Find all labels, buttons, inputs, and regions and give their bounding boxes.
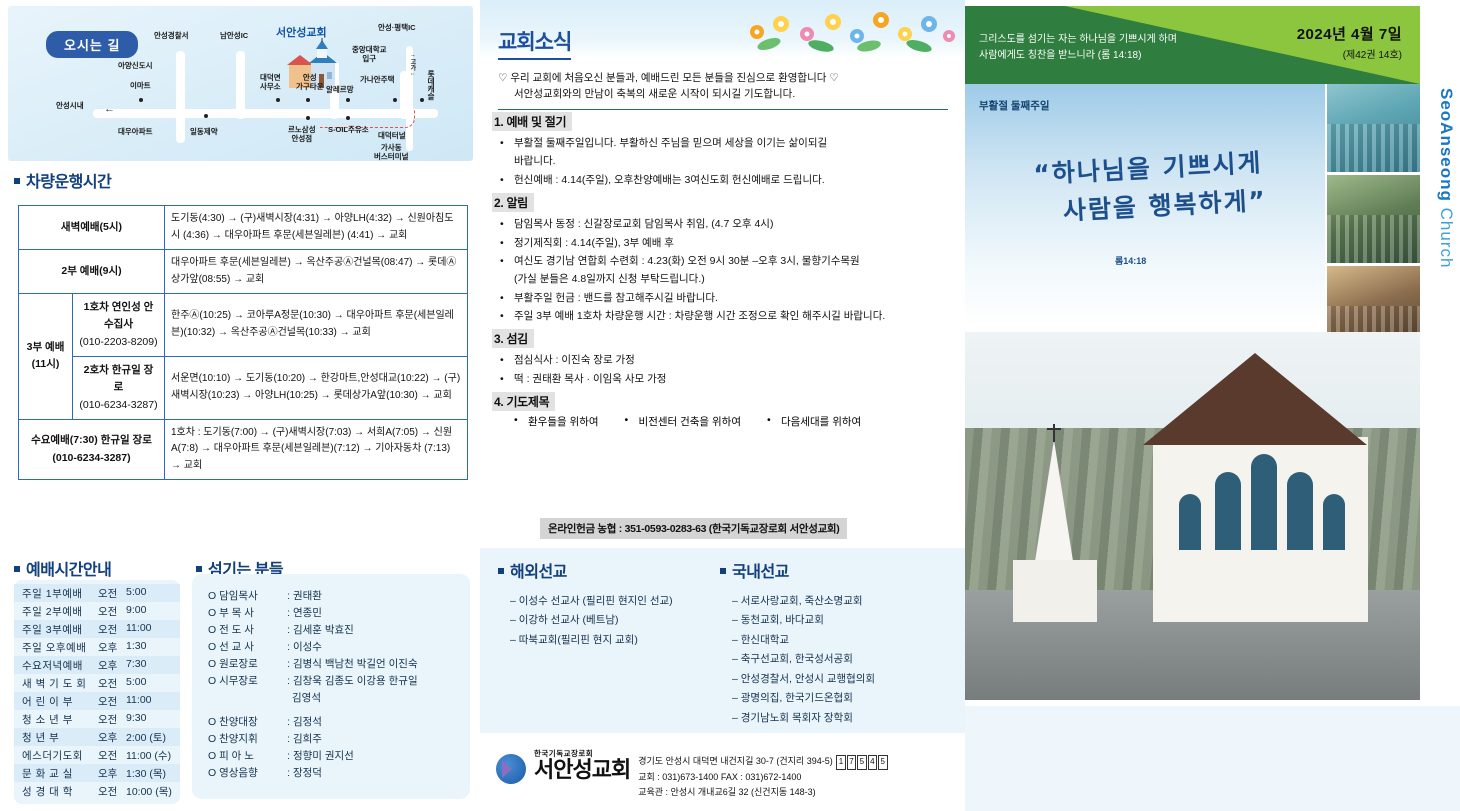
news-item: 헌신예배 : 4.14(주일), 오후찬양예배는 3여신도회 헌신예배로 드립니… (492, 171, 957, 189)
hero-calligraphy-panel: 부활절 둘째주일 “하나님을 기쁘시게 사람을 행복하게” 롬14:18 (965, 84, 1325, 329)
photo-church-roof (1143, 353, 1367, 445)
directions-map: 오시는 길 ← 서안성교회 (8, 6, 473, 161)
list-item: – 한신대학교 (732, 631, 875, 650)
church-logo-icon (496, 754, 526, 784)
photo-thumbnail-2 (1327, 175, 1420, 263)
overseas-mission-list: – 이성수 선교사 (필리핀 현지인 선교) – 이강하 선교사 (베트남) –… (510, 592, 673, 650)
direction-arrow-icon: ← (104, 103, 115, 115)
issue-date: 2024년 4월 7일 (1297, 23, 1402, 44)
bullet-square-icon (720, 568, 726, 574)
list-item: 청 년 부오후2:00 (토) (14, 728, 180, 746)
list-item: 문 화 교 실오후1:30 (목) (14, 764, 180, 782)
map-label-anseong-pyeongtaek-ic: 안성·평택IC (378, 24, 416, 33)
middle-column: 교회소식 ♡ 우리 교회에 처음오신 분들과, 예배드린 모든 분들을 진심으로… (480, 0, 965, 811)
worship-times-heading: 예배시간안내 (14, 556, 111, 580)
season-label: 부활절 둘째주일 (979, 98, 1050, 113)
bulletin-page: 오시는 길 ← 서안성교회 (0, 0, 1460, 811)
news-body: 1. 예배 및 절기 부활절 둘째주일입니다. 부활하신 주님을 믿으며 세상을… (492, 112, 957, 433)
news-section-prayer: 4. 기도제목 환우들을 위하여 비전센터 건축을 위하여 다음세대를 위하여 (492, 392, 957, 429)
prayer-item: 비전센터 건축을 위하여 (625, 414, 741, 429)
map-dot (420, 98, 424, 102)
map-dot (346, 116, 350, 120)
list-item: – 이성수 선교사 (필리핀 현지인 선교) (510, 592, 673, 611)
map-label-namanseong-ic: 남안성IC (220, 32, 248, 41)
map-label-chungang-univ: 중앙대학교입구 (352, 46, 387, 63)
list-item: – 동천교회, 바다교회 (732, 611, 875, 630)
news-section-title: 1. 예배 및 절기 (492, 112, 572, 131)
cell-bus1-driver: 1호차 연인성 안수집사 (010-2203-8209) (73, 294, 165, 357)
overseas-mission-heading: 해외선교 (498, 558, 567, 582)
address-line-2: 교회 : 031)673-1400 FAX : 031)672-1400 (638, 770, 887, 785)
church-building-photo (965, 332, 1420, 700)
driving-schedule-heading: 차량운행시간 (14, 168, 111, 192)
cell-route: 한주Ⓐ(10:25) → 코아루A정문(10:30) → 대우아파트 후문(세븐… (165, 294, 468, 357)
list-item: O 전 도 사: 김세훈 박효진 (208, 622, 454, 639)
map-label-canaan-house: 가나안주택 (360, 76, 395, 85)
news-item-continued: 바랍니다. (492, 152, 957, 170)
map-label-overpass: ↑ 고가 ↓ (408, 54, 415, 75)
calligraphy-text: “하나님을 기쁘시게 사람을 행복하게” (987, 142, 1310, 234)
brand-light-text: Church (1437, 202, 1456, 269)
list-item: 주일 2부예배오전9:00 (14, 602, 180, 620)
news-item: 점심식사 : 이진숙 장로 가정 (492, 351, 957, 369)
verse-line-1: 그리스도를 섬기는 자는 하나님을 기쁘시게 하며 (979, 32, 1177, 48)
map-dot (276, 98, 280, 102)
address-line-3: 교육관 : 안성시 개내교6길 32 (신건지동 148-3) (638, 785, 887, 800)
cell-route: 서운면(10:10) → 도기동(10:20) → 한강마트,안성대교(10:2… (165, 356, 468, 419)
prayer-item: 다음세대를 위하여 (767, 414, 861, 429)
map-label-ildong-pharm: 일동제약 (190, 128, 218, 137)
news-title: 교회소식 (498, 26, 571, 60)
news-section-title: 4. 기도제목 (492, 392, 555, 411)
list-item: – 광명의집, 한국기드온협회 (732, 689, 875, 708)
list-item: O 원로장로: 김병식 백남천 박길언 이진숙 (208, 656, 454, 673)
cell-route: 1호차 : 도기동(7:00) → (구)새벽시장(7:03) → 서희A(7:… (165, 419, 468, 480)
map-label-lotte-castle: 롯데캐슬 (426, 70, 435, 100)
driving-schedule-table: 새벽예배(5시) 도기동(4:30) → (구)새벽시장(4:31) → 아양L… (18, 205, 468, 480)
right-footer: 한국기독교 장 로 회 서안성교회 담임목사권 태 환 교회설립일 1982년 … (965, 706, 1460, 811)
map-label-allerman: 알레르망 (326, 86, 354, 95)
list-item: – 경기남노회 목회자 장학회 (732, 709, 875, 728)
cell-service-label: 새벽예배(5시) (19, 206, 165, 250)
list-item: – 따북교회(필리핀 현지 교회) (510, 631, 673, 650)
cell-bus2-phone: (010-6234-3287) (79, 397, 158, 414)
list-item: O 담임목사: 권태환 (208, 588, 454, 605)
list-item: O 영상음향: 장정덕 (208, 765, 454, 782)
welcome-line-1: ♡ 우리 교회에 처음오신 분들과, 예배드린 모든 분들을 진심으로 환영합니… (498, 70, 948, 86)
news-item: 담임목사 동정 : 신갈장로교회 담임목사 취임, (4.7 오후 4시) (492, 215, 957, 233)
photo-window (1215, 472, 1241, 550)
left-column: 오시는 길 ← 서안성교회 (0, 0, 480, 811)
list-item: 어 린 이 부오전11:00 (14, 692, 180, 710)
news-section-worship: 1. 예배 및 절기 부활절 둘째주일입니다. 부활하신 주님을 믿으며 세상을… (492, 112, 957, 189)
photo-window (1323, 494, 1345, 550)
table-row: 수요예배(7:30) 한규일 장로 (010-6234-3287) 1호차 : … (19, 419, 468, 480)
cell-service-label: 2부 예배(9시) (19, 250, 165, 294)
list-item: 주일 1부예배오전5:00 (14, 584, 180, 602)
church-name-label: 서안성교회 (534, 759, 630, 781)
map-dot (346, 98, 350, 102)
prayer-topics: 환우들을 위하여 비전센터 건축을 위하여 다음세대를 위하여 (492, 414, 957, 429)
prayer-item: 환우들을 위하여 (514, 414, 599, 429)
list-item: 성 경 대 학오전10:00 (목) (14, 782, 180, 800)
news-section-announcements: 2. 알림 담임목사 동정 : 신갈장로교회 담임목사 취임, (4.7 오후 … (492, 193, 957, 325)
news-item-continued: (가실 분들은 4.8일까지 신청 부탁드립니다.) (492, 270, 957, 288)
map-label-emart: 이마트 (130, 82, 151, 91)
list-item: – 안성경찰서, 안성시 교행협의회 (732, 670, 875, 689)
map-dot (306, 98, 310, 102)
photo-thumbnail-1 (1327, 84, 1420, 172)
road-vertical-1 (176, 51, 185, 143)
news-item: 떡 : 권태환 목사 · 이임옥 사모 가정 (492, 370, 957, 388)
photo-window (1179, 494, 1201, 550)
table-row: 3부 예배 (11시) 1호차 연인성 안수집사 (010-2203-8209)… (19, 294, 468, 357)
map-label-renault-samsung: 르노삼성안성점 (288, 126, 316, 143)
cell-service-label-3bu: 3부 예배 (11시) (19, 294, 73, 420)
map-label-daewoo-apt: 대우아파트 (118, 128, 153, 137)
header-verse: 그리스도를 섬기는 자는 하나님을 기쁘시게 하며 사람에게도 칭찬을 받느니라… (979, 32, 1177, 64)
list-item: O 선 교 사: 이성수 (208, 639, 454, 656)
news-section-serving: 3. 섬김 점심식사 : 이진숙 장로 가정 떡 : 권태환 목사 · 이임옥 … (492, 329, 957, 388)
list-item: – 서로사랑교회, 죽산소명교회 (732, 592, 875, 611)
map-label-furniture-town: 안성가구타운 (296, 74, 324, 91)
list-item: 수요저녁예배오후7:30 (14, 656, 180, 674)
vertical-brand-label: SeoAnseong Church (1426, 88, 1456, 288)
list-item: – 축구선교회, 한국성서공회 (732, 650, 875, 669)
news-item: 부활절 둘째주일입니다. 부활하신 주님을 믿으며 세상을 이기는 삶이되길 (492, 134, 957, 152)
map-label-anseong-downtown: 안성시내 (56, 102, 84, 111)
photo-window (1287, 472, 1313, 550)
welcome-message: ♡ 우리 교회에 처음오신 분들과, 예배드린 모든 분들을 진심으로 환영합니… (498, 70, 948, 110)
news-item: 주일 3부 예배 1호차 차량운행 시간 : 차량운행 시간 조정으로 확인 해… (492, 307, 957, 325)
list-item: O 찬양지휘: 김희주 (208, 731, 454, 748)
spacer (208, 707, 454, 714)
issue-date-block: 2024년 4월 7일 (제42권 14호) (1297, 23, 1402, 61)
map-label-daedeok-office: 대덕면사무소 (260, 74, 281, 91)
table-row: 2호차 한규일 장로 (010-6234-3287) 서운면(10:10) → … (19, 356, 468, 419)
church-contact-footer: 한국기독교장로회 서안성교회 경기도 안성시 대덕면 내건지길 30-7 (건지… (496, 748, 966, 803)
cell-route: 대우아파트 후문(세븐일레븐) → 옥산주공Ⓐ건널목(08:47) → 롯데Ⓐ상… (165, 250, 468, 294)
calligraphy-reference: 롬14:18 (1115, 254, 1146, 267)
domestic-mission-list: – 서로사랑교회, 죽산소명교회 – 동천교회, 바다교회 – 한신대학교 – … (732, 592, 875, 728)
list-item: 에스더기도회오전11:00 (수) (14, 746, 180, 764)
photo-steeple-base (1013, 560, 1097, 622)
map-label-gasadong-terminal: 가사동버스터미널 (374, 144, 409, 161)
list-item: O 찬양대장: 김정석 (208, 714, 454, 731)
bullet-square-icon (498, 568, 504, 574)
bullet-square-icon (14, 566, 20, 572)
online-giving-info: 온라인헌금 농협 : 351-0593-0283-63 (한국기독교장로회 서안… (540, 518, 847, 539)
news-item: 정기제직회 : 4.14(주일), 3부 예배 후 (492, 234, 957, 252)
news-section-title: 2. 알림 (492, 193, 534, 212)
list-item: 주일 3부예배오전11:00 (14, 620, 180, 638)
list-item: O 피 아 노: 정향미 권지선 (208, 748, 454, 765)
map-dot (393, 98, 397, 102)
list-item: – 이강하 선교사 (베트남) (510, 611, 673, 630)
list-item: 청 소 년 부오전9:30 (14, 710, 180, 728)
photo-window (1251, 454, 1277, 550)
list-item: 새 벽 기 도 회오전5:00 (14, 674, 180, 692)
church-logo-text: 한국기독교장로회 서안성교회 (534, 748, 630, 781)
bullet-square-icon (196, 566, 202, 572)
brand-bold-text: SeoAnseong (1437, 88, 1456, 202)
staff-list: O 담임목사: 권태환 O 부 목 사: 연종민 O 전 도 사: 김세훈 박효… (192, 574, 470, 799)
church-address-block: 경기도 안성시 대덕면 내건지길 30-7 (건지리 394-5) 17545 … (638, 754, 887, 799)
news-section-title: 3. 섬김 (492, 329, 534, 348)
cell-wednesday-label: 수요예배(7:30) 한규일 장로 (010-6234-3287) (19, 419, 165, 480)
cross-icon (1053, 424, 1055, 442)
news-item: 부활주일 헌금 : 밴드를 참고해주시길 바랍니다. (492, 289, 957, 307)
list-item: 주일 오후예배오후1:30 (14, 638, 180, 656)
table-row: 새벽예배(5시) 도기동(4:30) → (구)새벽시장(4:31) → 아양L… (19, 206, 468, 250)
cell-route: 도기동(4:30) → (구)새벽시장(4:31) → 아양LH(4:32) →… (165, 206, 468, 250)
map-dot (139, 98, 143, 102)
postal-code: 17545 (835, 754, 887, 770)
news-item: 여신도 경기남 연합회 수련회 : 4.23(화) 오전 9시 30분 –오후 … (492, 252, 957, 270)
welcome-line-2: 서안성교회와의 만남이 축복의 새로운 시작이 되시길 기도합니다. (498, 86, 948, 102)
bullet-square-icon (14, 178, 20, 184)
map-label-soil-station: S-OIL주유소 (328, 126, 369, 135)
map-dot (204, 114, 208, 118)
staff-continuation: 김영석 (208, 690, 454, 707)
list-item: O 시무장로: 김창욱 김종도 이강용 한규일 (208, 673, 454, 690)
map-label-ayang-newtown: 아양신도시 (118, 62, 153, 71)
map-label-daedeok-tunnel: 대덕터널 (378, 132, 406, 141)
map-label-police: 안성경찰서 (154, 32, 189, 41)
cell-bus2-driver: 2호차 한규일 장로 (010-6234-3287) (73, 356, 165, 419)
address-line-1: 경기도 안성시 대덕면 내건지길 30-7 (건지리 394-5) 17545 (638, 754, 887, 770)
right-column: 그리스도를 섬기는 자는 하나님을 기쁘시게 하며 사람에게도 칭찬을 받느니라… (965, 0, 1460, 811)
domestic-mission-heading: 국내선교 (720, 558, 789, 582)
issue-volume: (제42권 14호) (1297, 46, 1402, 61)
header-banner: 그리스도를 섬기는 자는 하나님을 기쁘시게 하며 사람에게도 칭찬을 받느니라… (965, 6, 1420, 84)
worship-times-list: 주일 1부예배오전5:00 주일 2부예배오전9:00 주일 3부예배오전11:… (14, 580, 180, 804)
table-row: 2부 예배(9시) 대우아파트 후문(세븐일레븐) → 옥산주공Ⓐ건널목(08:… (19, 250, 468, 294)
cell-bus1-phone: (010-2203-8209) (79, 334, 158, 351)
map-dot (306, 116, 310, 120)
flower-decoration-icon (729, 2, 959, 54)
verse-line-2: 사람에게도 칭찬을 받느니라 (롬 14:18) (979, 48, 1177, 64)
list-item: O 부 목 사: 연종민 (208, 605, 454, 622)
road-vertical-2 (236, 51, 245, 119)
